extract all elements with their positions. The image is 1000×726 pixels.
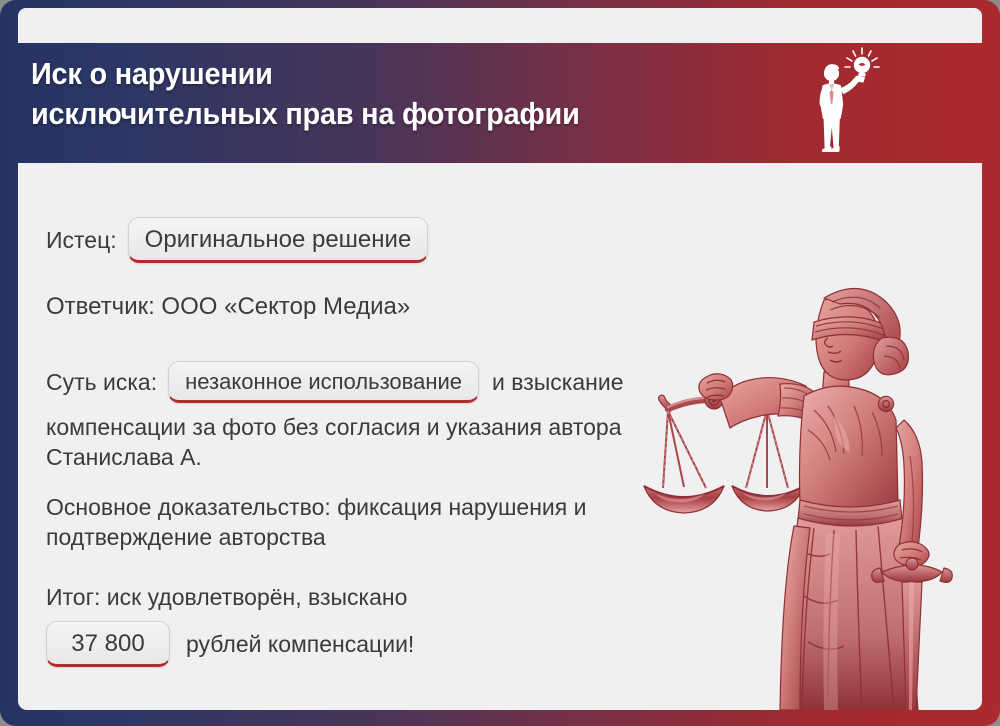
subject-row: Суть иска: незаконное использование и вз…: [46, 361, 624, 403]
card-top-strip: [18, 8, 982, 43]
subject-chip[interactable]: незаконное использование: [168, 361, 479, 403]
case-summary-content: Истец: Оригинальное решение Ответчик: ОО…: [32, 163, 732, 710]
subject-tail-text: и взыскание: [492, 369, 623, 396]
defendant-row: Ответчик: ООО «Сектор Медиа»: [46, 291, 410, 322]
evidence-text: Основное доказательство: фиксация наруше…: [46, 493, 666, 553]
subject-label: Суть иска:: [46, 369, 157, 396]
plaintiff-row: Истец: Оригинальное решение: [46, 217, 428, 263]
amount-tail-text: рублей компенсации!: [186, 631, 414, 658]
infographic-card: Иск о нарушении исключительных прав на ф…: [0, 0, 1000, 726]
amount-row: 37 800 рублей компенсации!: [46, 621, 414, 667]
compensation-text: компенсации за фото без согласия и указа…: [46, 413, 666, 473]
plaintiff-chip[interactable]: Оригинальное решение: [128, 217, 429, 263]
card-body-panel: Истец: Оригинальное решение Ответчик: ОО…: [18, 163, 982, 710]
plaintiff-label: Истец:: [46, 227, 117, 254]
businessman-with-lightbulb-icon: [800, 46, 890, 158]
result-text: Итог: иск удовлетворён, взыскано: [46, 583, 407, 613]
page-title: Иск о нарушении исключительных прав на ф…: [31, 54, 580, 135]
card-header: Иск о нарушении исключительных прав на ф…: [0, 43, 1000, 163]
amount-chip[interactable]: 37 800: [46, 621, 170, 667]
